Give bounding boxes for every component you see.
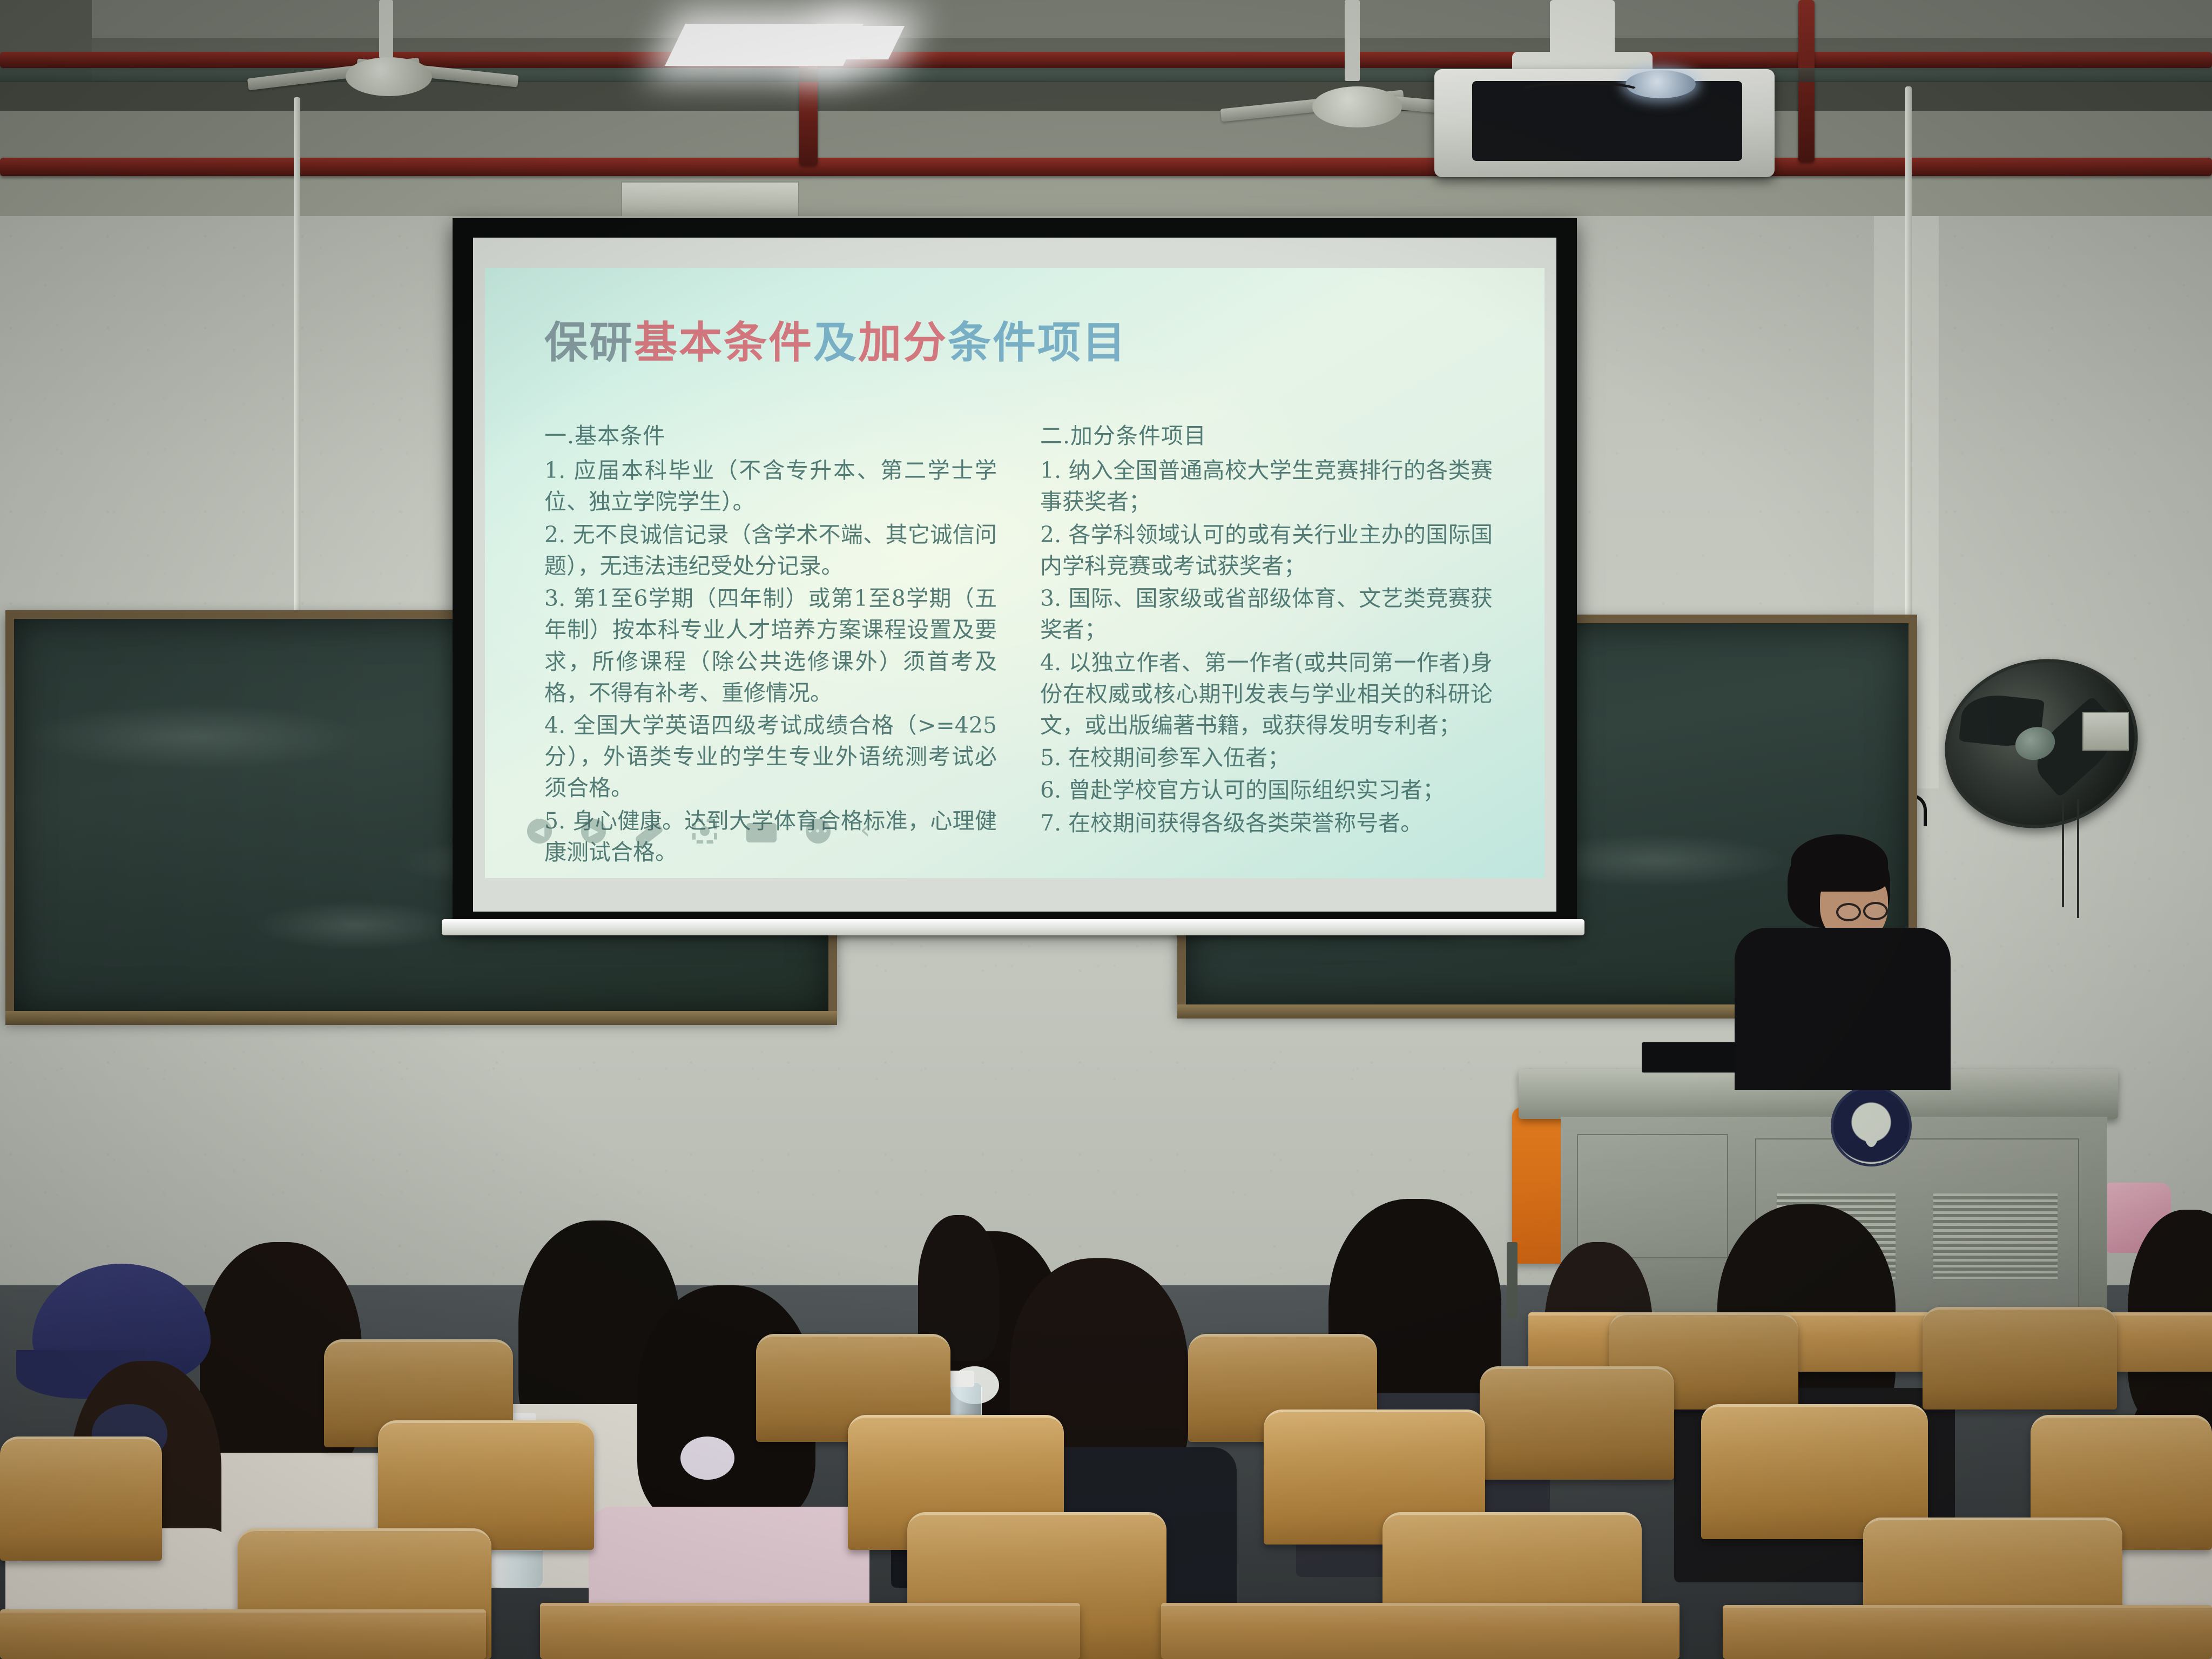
red-pipe-lower: [0, 158, 2212, 176]
ceiling-fan-left-rod: [379, 0, 393, 58]
left-item-3: 3. 第1至6学期（四年制）或第1至8学期（五年制）按本科专业人才培养方案课程设…: [544, 583, 997, 709]
presenter-fringe: [1791, 834, 1888, 892]
seat-back-r5b[interactable]: [1923, 1307, 2117, 1410]
wall-fan-pull-cord-a[interactable]: [2062, 799, 2064, 907]
right-item-7: 7. 在校期间获得各级各类荣誉称号者。: [1040, 807, 1493, 839]
slide-title: 保研基本条件及加分条件项目: [544, 308, 1493, 370]
lecture-hall-photo: 保研基本条件及加分条件项目 一.基本条件 1. 应届本科毕业（不含专升本、第二学…: [0, 0, 2212, 1659]
podium-drawer[interactable]: [1577, 1134, 1728, 1258]
desk-row-front-c: [1161, 1603, 1680, 1659]
video-icon[interactable]: [746, 823, 777, 842]
projector-cable: [1518, 81, 1642, 173]
slide-column-right: 二.加分条件项目 1. 纳入全国普通高校大学生竞赛排行的各类赛事获奖者； 2. …: [1040, 420, 1493, 878]
right-item-3: 3. 国际、国家级或省部级体育、文艺类竞赛获奖者；: [1040, 583, 1493, 645]
ceiling-fan-right-motor: [1312, 86, 1402, 127]
title-part-2: 基本条件: [634, 317, 813, 368]
slide-content: 保研基本条件及加分条件项目 一.基本条件 1. 应届本科毕业（不含专升本、第二学…: [485, 268, 1545, 878]
orange-chair-leg-a: [1507, 1242, 1518, 1318]
red-pipe-upper: [0, 52, 2212, 68]
seat-r4d[interactable]: [1480, 1366, 1674, 1480]
ceiling-slab: [0, 0, 2212, 38]
slide-columns: 一.基本条件 1. 应届本科毕业（不含专升本、第二学士学位、独立学院学生）。 2…: [544, 420, 1493, 878]
wall-outlet: [2082, 712, 2129, 751]
ceiling-beam: [0, 81, 2212, 111]
left-item-4: 4. 全国大学英语四级考试成绩合格（>=425分），外语类专业的学生专业外语统测…: [544, 710, 997, 804]
title-part-4: 加分: [858, 317, 948, 368]
left-column-heading: 一.基本条件: [544, 420, 997, 451]
presenter-glasses-right: [1863, 902, 1888, 920]
projection-screen-roller: [442, 919, 1584, 935]
desk-row-front-b: [540, 1603, 1080, 1659]
play-icon[interactable]: ▶: [581, 819, 606, 844]
podium-emblem: [1831, 1085, 1912, 1166]
projected-slide: 保研基本条件及加分条件项目 一.基本条件 1. 应届本科毕业（不含专升本、第二学…: [485, 268, 1545, 878]
ceiling-fan-right-rod: [1345, 0, 1360, 81]
wall-fan-pull-cord-b[interactable]: [2077, 799, 2079, 918]
more-options-icon[interactable]: •••: [806, 819, 831, 844]
left-item-1: 1. 应届本科毕业（不含专升本、第二学士学位、独立学院学生）。: [544, 455, 997, 517]
slide-column-left: 一.基本条件 1. 应届本科毕业（不含专升本、第二学士学位、独立学院学生）。 2…: [544, 420, 997, 878]
projector-mount-pole: [1550, 0, 1615, 59]
left-item-2: 2. 无不良诚信记录（含学术不端、其它诚信问题），无违法违纪受处分记录。: [544, 519, 997, 582]
title-part-1: 保研: [544, 317, 634, 368]
title-part-3: 及: [813, 317, 858, 368]
previous-slide-icon[interactable]: ◀: [527, 819, 552, 844]
seat-r3a[interactable]: [0, 1437, 162, 1561]
right-item-6: 6. 曾赴学校官方认可的国际组织实习者；: [1040, 774, 1493, 806]
presenter: [1735, 928, 1951, 1090]
collapse-icon[interactable]: ‹: [860, 819, 885, 844]
title-part-5: 条件项目: [948, 317, 1127, 368]
blackboard-left-tray: [5, 1011, 837, 1025]
right-item-5: 5. 在校期间参军入伍者；: [1040, 742, 1493, 773]
right-item-1: 1. 纳入全国普通高校大学生竞赛排行的各类赛事获奖者；: [1040, 455, 1493, 517]
ceiling-fan-left-motor: [346, 57, 432, 96]
slide-player-toolbar[interactable]: ◀ ▶ ••• ‹: [527, 819, 885, 844]
presenter-glasses-left: [1836, 903, 1861, 921]
audience-scrunchie-front-center: [680, 1437, 734, 1480]
desk-row-front-d: [1723, 1605, 2212, 1659]
desk-row-front-a: [0, 1609, 486, 1659]
spotlight-icon[interactable]: [692, 819, 717, 844]
right-item-2: 2. 各学科领域认可的或有关行业主办的国际国内学科竞赛或考试获奖者；: [1040, 519, 1493, 582]
podium-vent-right: [1933, 1193, 2058, 1280]
right-item-4: 4. 以独立作者、第一作者(或共同第一作者)身份在权威或核心期刊发表与学业相关的…: [1040, 647, 1493, 741]
right-column-heading: 二.加分条件项目: [1040, 420, 1493, 451]
